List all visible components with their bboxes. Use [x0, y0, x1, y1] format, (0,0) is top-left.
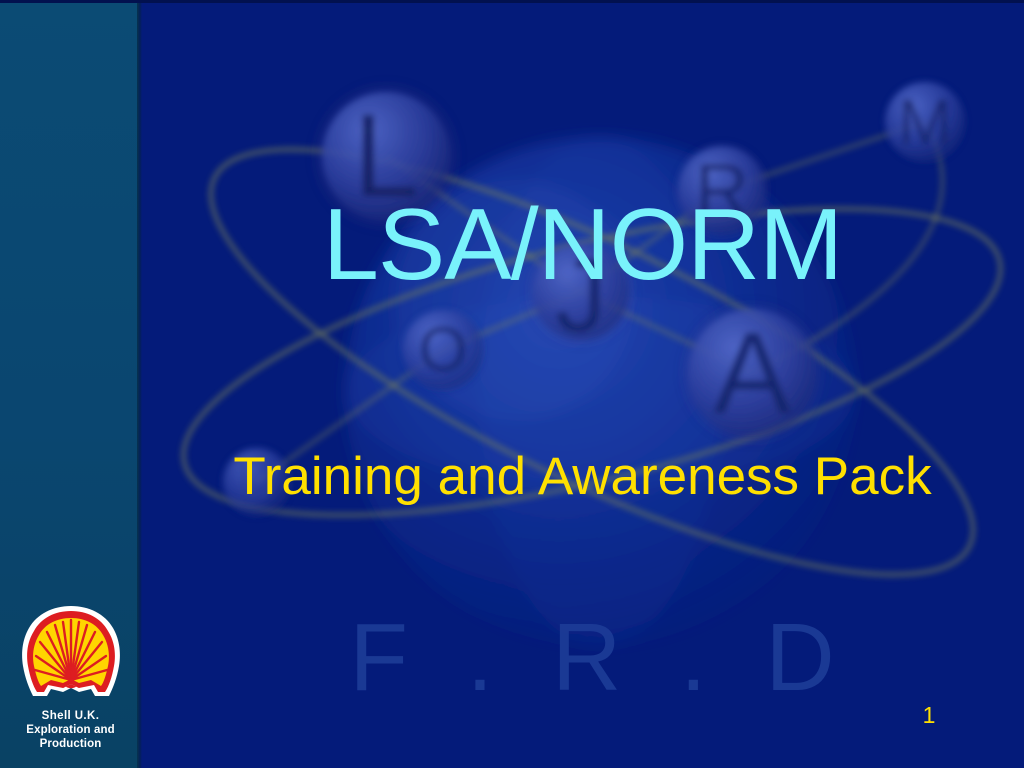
- svg-text:A: A: [713, 308, 791, 438]
- logo-line-2: Exploration and Production: [0, 723, 141, 751]
- atom-node-A: A: [676, 297, 828, 449]
- atom-node-M: M: [885, 82, 965, 162]
- atom-background-graphic: L M R O J A: [141, 0, 1024, 768]
- shell-pecten-logo: [19, 604, 123, 701]
- presentation-slide: L M R O J A: [0, 0, 1024, 768]
- shell-logo-block: Shell U.K. Exploration and Production: [0, 604, 141, 754]
- atom-node-O: O: [403, 310, 483, 390]
- watermark-text: F . R . D: [349, 604, 850, 711]
- slide-top-border: [0, 0, 1024, 3]
- slide-subtitle: Training and Awareness Pack: [141, 447, 1024, 507]
- slide-title: LSA/NORM: [141, 193, 1024, 297]
- slide-page-number: 1: [905, 702, 953, 728]
- logo-line-1: Shell U.K.: [0, 710, 141, 723]
- svg-text:M: M: [898, 86, 951, 158]
- svg-text:O: O: [419, 316, 467, 385]
